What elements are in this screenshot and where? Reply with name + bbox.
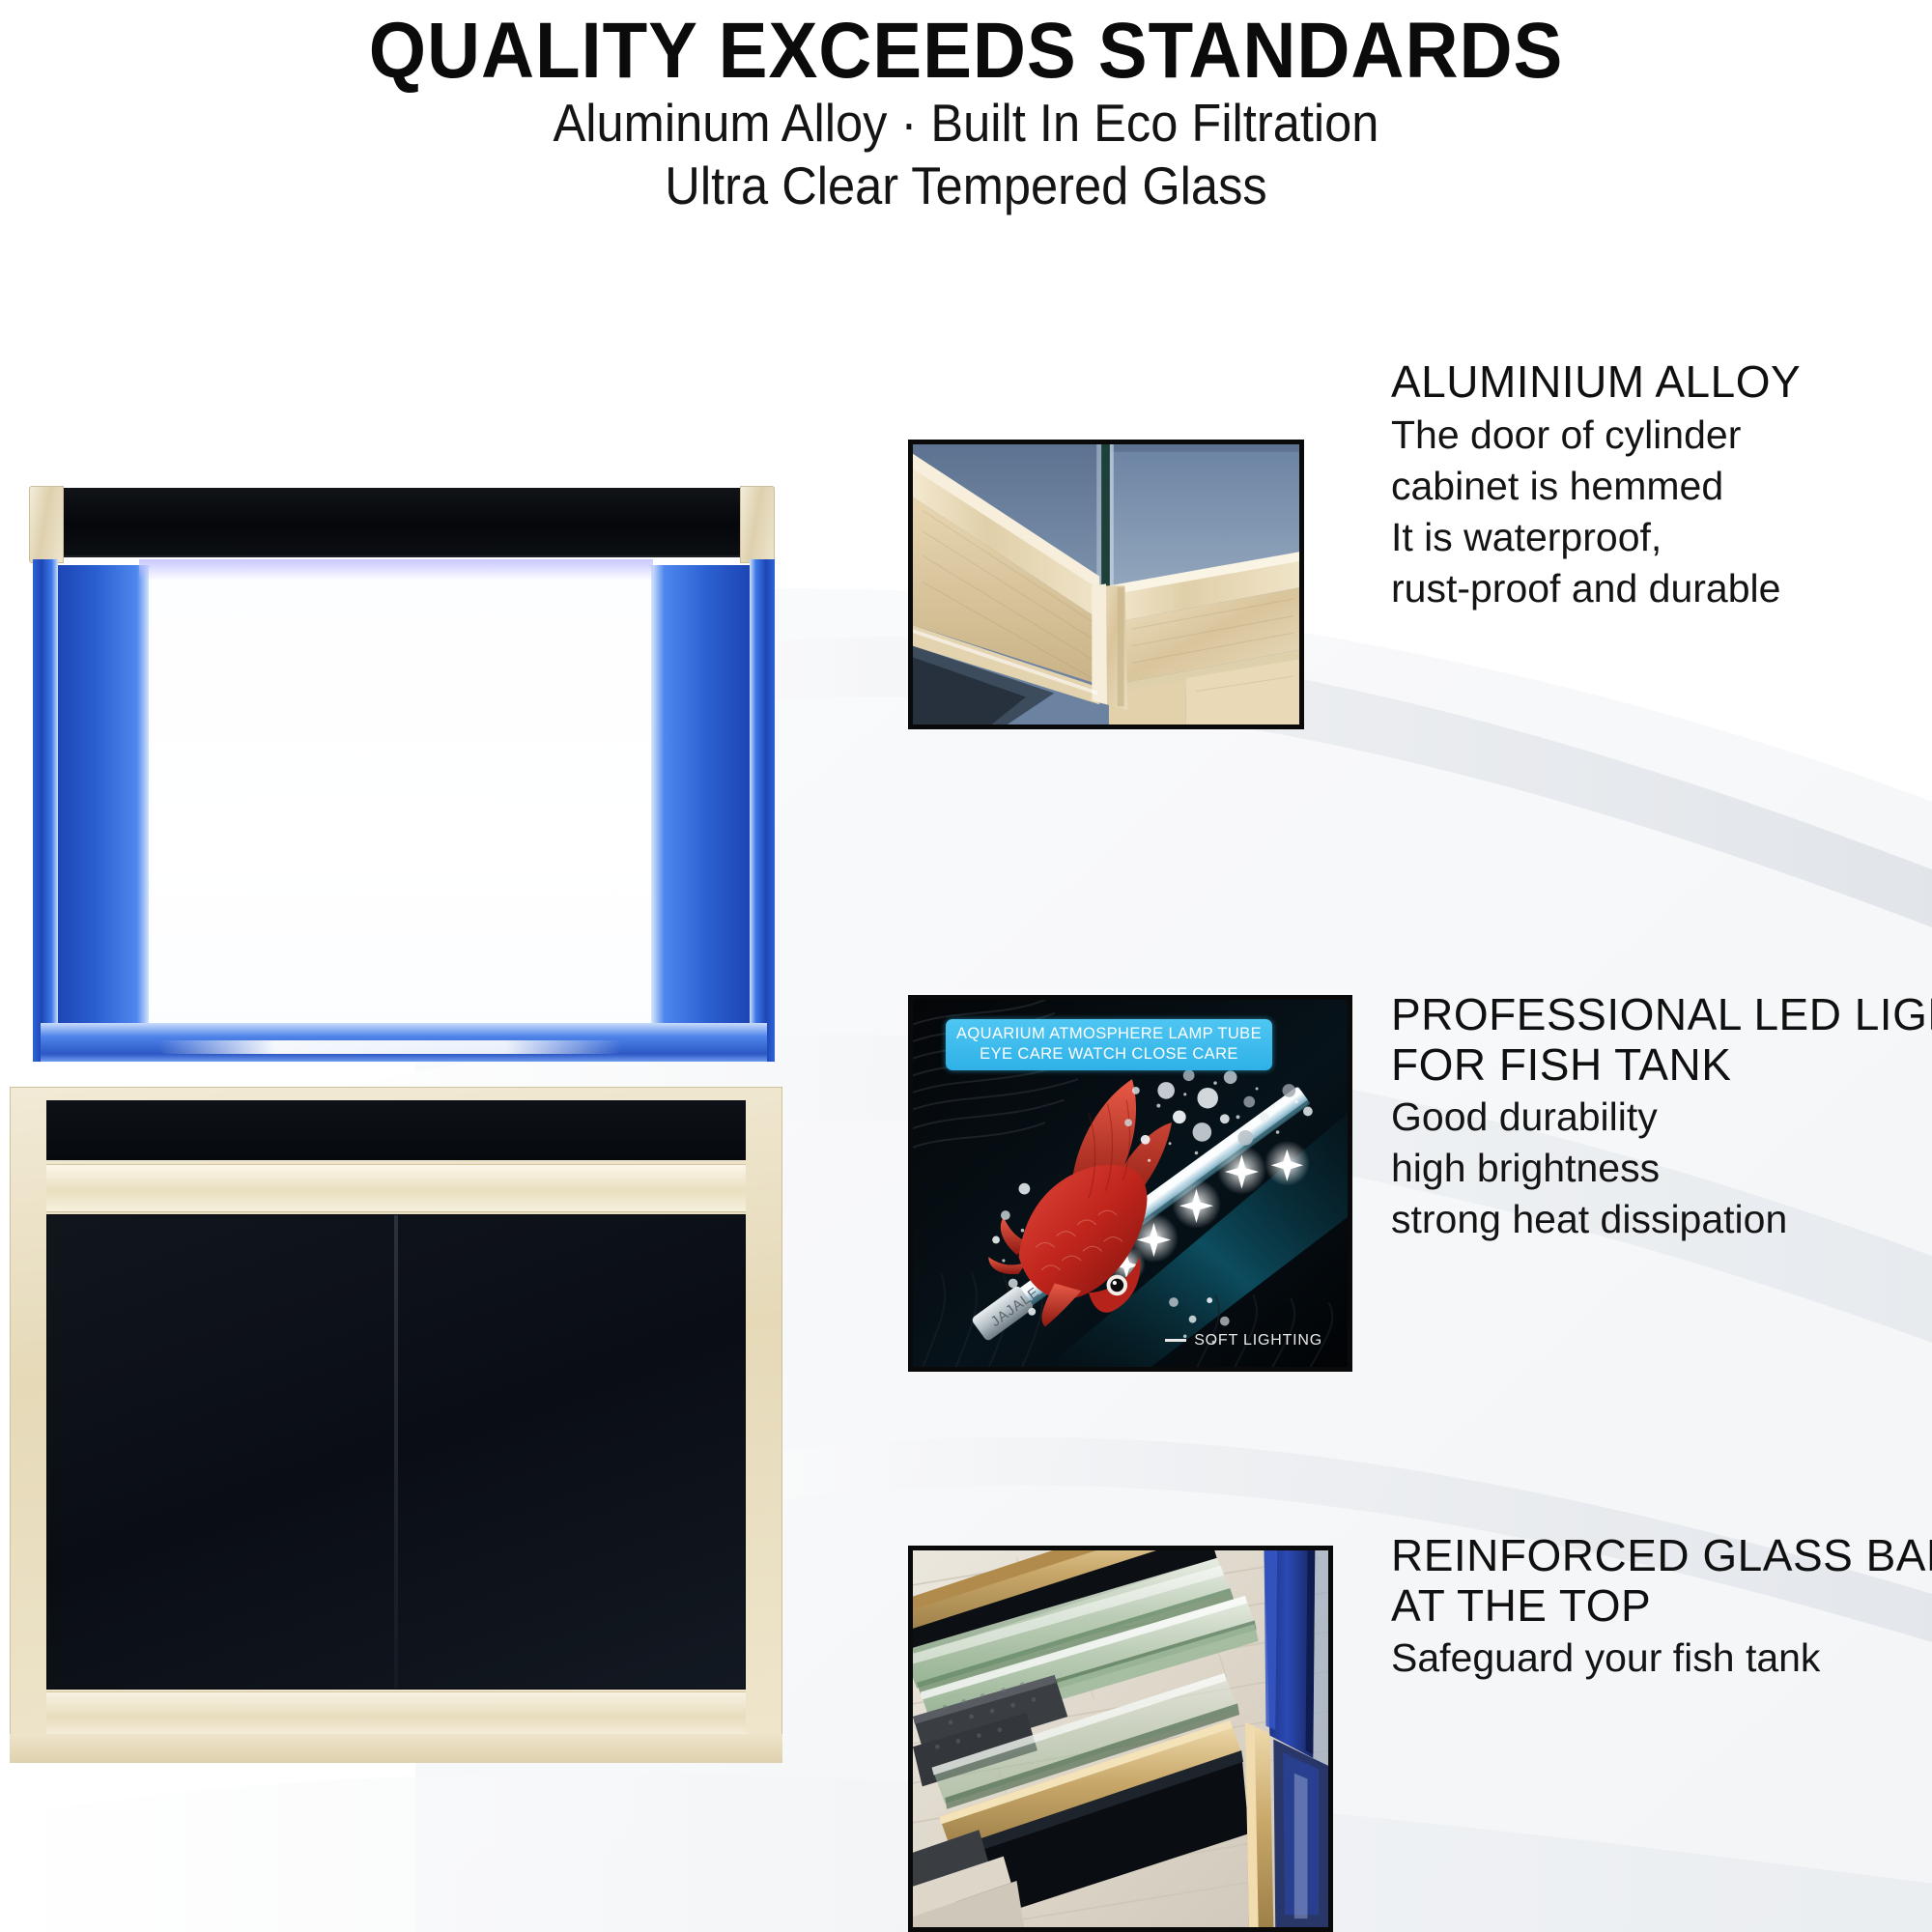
- feature-body-line: strong heat dissipation: [1391, 1196, 1932, 1243]
- cabinet-lower-rail: [46, 1691, 746, 1734]
- feature-body-line: rust-proof and durable: [1391, 565, 1932, 612]
- header: QUALITY EXCEEDS STANDARDS Aluminum Alloy…: [0, 0, 1932, 261]
- hero-product-image: [10, 488, 782, 1782]
- glass-panel-front: [149, 567, 651, 1048]
- badge-line-1: AQUARIUM ATMOSPHERE LAMP TUBE: [956, 1024, 1262, 1044]
- cabinet-top-black-band: [46, 1100, 746, 1160]
- hood-corner-cap-left: [29, 486, 64, 563]
- cabinet-base: [10, 1734, 782, 1763]
- photo-reinforced-glass-bar: [908, 1546, 1333, 1932]
- glass-panel-left-side: [58, 565, 151, 1048]
- soft-lighting-text: SOFT LIGHTING: [1194, 1332, 1322, 1349]
- tank-glass-body: [33, 559, 775, 1062]
- feature-body-line: The door of cylinder: [1391, 412, 1932, 459]
- feature-heading-line: AT THE TOP: [1391, 1581, 1932, 1632]
- cabinet-stand: [10, 1087, 782, 1763]
- dash-icon: [1165, 1339, 1186, 1342]
- photo-aluminium-alloy-corner: [908, 440, 1304, 729]
- feature-body-line: high brightness: [1391, 1145, 1932, 1192]
- feature-heading-line: ALUMINIUM ALLOY: [1391, 357, 1932, 408]
- feature-aluminium-alloy: ALUMINIUM ALLOY The door of cylinder cab…: [908, 435, 1932, 676]
- subtitle-line-1: Aluminum Alloy · Built In Eco Filtration: [77, 92, 1855, 155]
- feature-text-reinforced-glass-bar: REINFORCED GLASS BAR AT THE TOP Safeguar…: [1391, 1531, 1932, 1682]
- feature-professional-led-lights: JAJALE: [908, 995, 1932, 1381]
- feature-body-line: Safeguard your fish tank: [1391, 1634, 1932, 1682]
- feature-reinforced-glass-bar: REINFORCED GLASS BAR AT THE TOP Safeguar…: [908, 1546, 1932, 1932]
- feature-heading-line: REINFORCED GLASS BAR: [1391, 1531, 1932, 1581]
- subtitle-line-2: Ultra Clear Tempered Glass: [77, 155, 1855, 217]
- feature-text-professional-led-lights: PROFESSIONAL LED LIGHTS FOR FISH TANK Go…: [1391, 990, 1932, 1244]
- soft-lighting-label: SOFT LIGHTING: [1165, 1332, 1322, 1350]
- feature-body-line: cabinet is hemmed: [1391, 463, 1932, 510]
- feature-heading-line: FOR FISH TANK: [1391, 1040, 1932, 1091]
- hood-corner-cap-right: [740, 486, 775, 563]
- glass-bottom-sheen: [158, 1040, 622, 1054]
- glass-panel-left-edge: [33, 559, 58, 1062]
- tank-hood: [50, 488, 748, 557]
- feature-text-aluminium-alloy: ALUMINIUM ALLOY The door of cylinder cab…: [1391, 357, 1932, 612]
- photo-led-light-fish: JAJALE: [908, 995, 1352, 1372]
- tank-top-light-glow: [139, 559, 653, 581]
- feature-body-line: Good durability: [1391, 1094, 1932, 1141]
- cabinet-door-split: [394, 1215, 398, 1689]
- cabinet-upper-rail: [46, 1164, 746, 1212]
- feature-body-line: It is waterproof,: [1391, 514, 1932, 561]
- badge-line-2: EYE CARE WATCH CLOSE CARE: [956, 1044, 1262, 1065]
- glass-panel-right-edge: [750, 559, 775, 1062]
- glass-panel-right-side: [649, 565, 750, 1048]
- page-title: QUALITY EXCEEDS STANDARDS: [68, 0, 1864, 92]
- cabinet-doors: [46, 1214, 746, 1690]
- aquarium-tank: [23, 488, 777, 1135]
- led-photo-badge: AQUARIUM ATMOSPHERE LAMP TUBE EYE CARE W…: [946, 1019, 1272, 1070]
- feature-heading-line: PROFESSIONAL LED LIGHTS: [1391, 990, 1932, 1040]
